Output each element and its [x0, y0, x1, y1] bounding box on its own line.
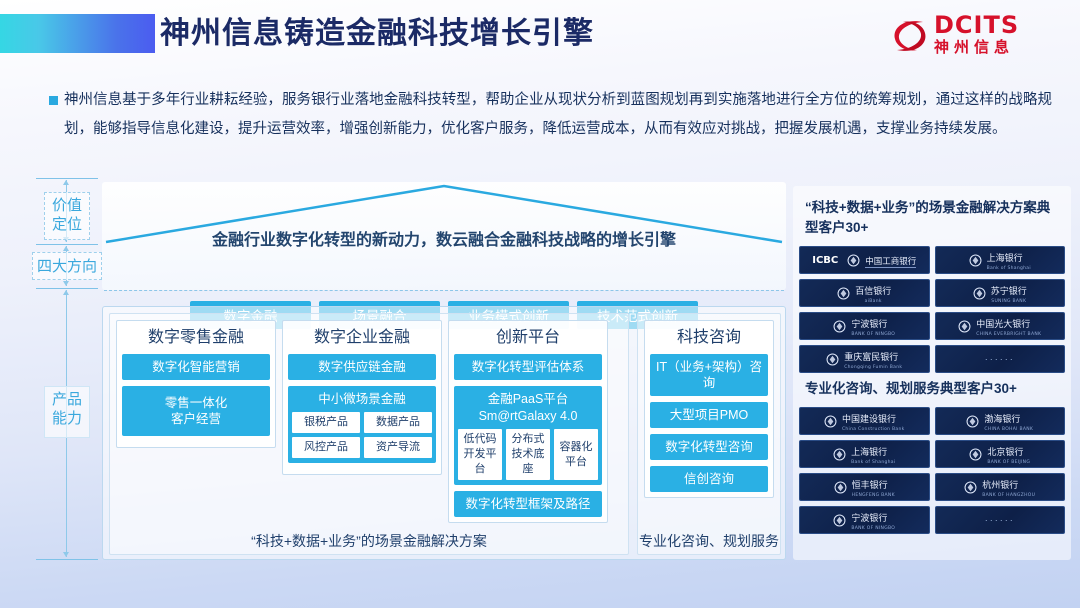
title-accent-bar: [0, 14, 155, 53]
axis-divider: [36, 178, 98, 179]
bank-name-cn: 渤海银行: [984, 414, 1020, 424]
bank-name-cn: 苏宁银行: [991, 286, 1027, 296]
product-column-tech-consulting[interactable]: 科技咨询 IT（业务+架构）咨询 大型项目PMO 数字化转型咨询 信创咨询: [644, 320, 774, 498]
bank-name-cn: 杭州银行: [982, 480, 1018, 490]
intro-text: 神州信息基于多年行业耕耘经验，服务银行业落地金融科技转型，帮助企业从现状分析到蓝…: [64, 86, 1052, 144]
chip-digital-smart-marketing[interactable]: 数字化智能营销: [122, 354, 270, 380]
sub-chip-risk-control[interactable]: 风控产品: [292, 437, 360, 458]
sub-chip-asset-routing[interactable]: 资产导流: [364, 437, 432, 458]
roof-card: 金融行业数字化转型的新动力，数云融合金融科技战略的增长引擎: [102, 182, 786, 290]
customer-logo-tile[interactable]: ······: [935, 506, 1066, 534]
bank-emblem-icon: [973, 287, 986, 300]
bank-emblem-icon: [826, 353, 839, 366]
consulting-group: 科技咨询 IT（业务+架构）咨询 大型项目PMO 数字化转型咨询 信创咨询 专业…: [637, 313, 781, 555]
roof-text: 金融行业数字化转型的新动力，数云融合金融科技战略的增长引擎: [102, 226, 786, 250]
consulting-caption: 专业化咨询、规划服务: [638, 531, 780, 551]
bank-name-cn: 中国建设银行: [842, 414, 896, 424]
bank-emblem-icon: [969, 448, 982, 461]
bank-name-cn: 北京银行: [987, 447, 1023, 457]
bank-emblem-icon: [834, 481, 847, 494]
axis-label-product-capability: 产品 能力: [44, 386, 90, 438]
bank-emblem-icon: [958, 320, 971, 333]
bank-name-en: BANK OF NINGBO: [851, 526, 895, 532]
bank-name-block: 恒丰银行HENGFENG BANK: [852, 475, 895, 499]
column-title: 数字零售金融: [122, 326, 270, 350]
bank-emblem-icon: [833, 448, 846, 461]
bank-emblem-icon: [969, 254, 982, 267]
bank-emblem-icon: [837, 287, 850, 300]
bank-name-en: aiBank: [855, 299, 891, 305]
bank-name-block: 中国建设银行China Construction Bank: [842, 409, 905, 433]
customer-logo-tile[interactable]: ICBC中国工商银行: [799, 246, 930, 274]
chip-transformation-assessment[interactable]: 数字化转型评估体系: [454, 354, 602, 380]
chip-xinchuang-consulting[interactable]: 信创咨询: [650, 466, 768, 492]
customer-logo-tile[interactable]: ······: [935, 345, 1066, 373]
chip-group-financial-paas[interactable]: 金融PaaS平台 Sm@rtGalaxy 4.0 低代码开发平台 分布式技术底座…: [454, 386, 602, 485]
center-diagram: 金融行业数字化转型的新动力，数云融合金融科技战略的增长引擎 数字金融 场景融合 …: [102, 182, 786, 560]
axis-label-value-positioning: 价值 定位: [44, 192, 90, 240]
bank-name-en: BANK OF HANGZHOU: [982, 493, 1035, 499]
bank-name-en: SUNING BANK: [991, 299, 1027, 305]
product-column-retail[interactable]: 数字零售金融 数字化智能营销 零售一体化 客户经营: [116, 320, 276, 448]
value-axis: 价值 定位 四大方向 产品 能力: [30, 178, 102, 560]
bank-name-block: 百信银行aiBank: [855, 281, 891, 305]
customers-section2-heading: 专业化咨询、规划服务典型客户30+: [799, 373, 1065, 407]
axis-divider: [36, 288, 98, 289]
bank-emblem-icon: [964, 481, 977, 494]
bank-name-en: Bank of Shanghai: [851, 460, 895, 466]
bank-name-block: 苏宁银行SUNING BANK: [991, 281, 1027, 305]
customer-logo-grid-1: ICBC中国工商银行上海银行Bank of Shanghai百信银行aiBank…: [799, 246, 1065, 373]
intro-paragraph: 神州信息基于多年行业耕耘经验，服务银行业落地金融科技转型，帮助企业从现状分析到蓝…: [34, 86, 1052, 144]
sub-chip-container-platform[interactable]: 容器化平台: [554, 429, 598, 480]
chip-digital-supply-chain-finance[interactable]: 数字供应链金融: [288, 354, 436, 380]
customer-logo-tile[interactable]: 北京银行BANK OF BEIJING: [935, 440, 1066, 468]
dcits-logo: DCITS 神州信息: [872, 13, 1062, 59]
product-column-enterprise[interactable]: 数字企业金融 数字供应链金融 中小微场景金融 银税产品 数据产品 风控产品 资产…: [282, 320, 442, 475]
product-capability-panel: 数字零售金融 数字化智能营销 零售一体化 客户经营 数字企业金融 数字供应链金融…: [102, 306, 786, 560]
bank-emblem-icon: [833, 320, 846, 333]
bank-name-cn: 重庆富民银行: [844, 352, 898, 362]
bank-name-en: CHINA BOHAI BANK: [984, 427, 1033, 433]
customer-logo-tile[interactable]: 上海银行Bank of Shanghai: [935, 246, 1066, 274]
axis-divider: [36, 244, 98, 245]
bank-emblem-icon: [824, 415, 837, 428]
logo-cn-label: 神州信息: [934, 38, 1019, 57]
customer-logo-tile[interactable]: 上海银行Bank of Shanghai: [799, 440, 930, 468]
bank-name-en: China Construction Bank: [842, 427, 905, 433]
bank-name-cn: 中国工商银行: [865, 256, 916, 268]
bank-name-block: 中国光大银行CHINA EVERBRIGHT BANK: [976, 314, 1041, 338]
chip-group-sme-scenario-finance[interactable]: 中小微场景金融 银税产品 数据产品 风控产品 资产导流: [288, 386, 436, 463]
bank-name-cn: 上海银行: [851, 447, 887, 457]
bank-name-en: BANK OF BEIJING: [987, 460, 1030, 466]
customer-logo-tile[interactable]: 中国光大银行CHINA EVERBRIGHT BANK: [935, 312, 1066, 340]
page-title: 神州信息铸造金融科技增长引擎: [160, 14, 594, 54]
dcits-logo-text: DCITS 神州信息: [934, 13, 1019, 57]
page-header: 神州信息铸造金融科技增长引擎 DCITS 神州信息: [0, 0, 1080, 72]
bank-name-cn: 宁波银行: [851, 319, 887, 329]
bank-name-cn: 中国光大银行: [976, 319, 1030, 329]
bank-name-block: 北京银行BANK OF BEIJING: [987, 442, 1030, 466]
sub-chip-bank-tax[interactable]: 银税产品: [292, 412, 360, 433]
customer-logo-tile[interactable]: 宁波银行BANK OF NINGBO: [799, 506, 930, 534]
chip-it-consulting[interactable]: IT（业务+架构）咨询: [650, 354, 768, 396]
axis-label-four-directions: 四大方向: [32, 252, 102, 280]
customers-section1-heading: “科技+数据+业务”的场景金融解决方案典型客户30+: [799, 192, 1065, 246]
bank-name-en: HENGFENG BANK: [852, 493, 895, 499]
customer-logo-tile[interactable]: 杭州银行BANK OF HANGZHOU: [935, 473, 1066, 501]
solution-group: 数字零售金融 数字化智能营销 零售一体化 客户经营 数字企业金融 数字供应链金融…: [109, 313, 629, 555]
bank-name-block: 重庆富民银行Chongqing Fumin Bank: [844, 347, 902, 371]
bank-emblem-icon: [833, 514, 846, 527]
bank-name-block: 宁波银行BANK OF NINGBO: [851, 314, 895, 338]
customer-logo-tile[interactable]: 恒丰银行HENGFENG BANK: [799, 473, 930, 501]
bank-name-block: 上海银行Bank of Shanghai: [987, 248, 1031, 272]
bank-name-en: Chongqing Fumin Bank: [844, 365, 902, 371]
bank-emblem-icon: [966, 415, 979, 428]
sub-chip-lowcode-platform[interactable]: 低代码开发平台: [458, 429, 502, 480]
customer-logo-tile[interactable]: 中国建设银行China Construction Bank: [799, 407, 930, 435]
product-column-innovation-platform[interactable]: 创新平台 数字化转型评估体系 金融PaaS平台 Sm@rtGalaxy 4.0 …: [448, 320, 608, 523]
customer-logo-tile[interactable]: 渤海银行CHINA BOHAI BANK: [935, 407, 1066, 435]
bank-name-block: 杭州银行BANK OF HANGZHOU: [982, 475, 1035, 499]
more-customers-dots: ······: [985, 354, 1015, 364]
typical-customers-panel: “科技+数据+业务”的场景金融解决方案典型客户30+ ICBC中国工商银行上海银…: [793, 186, 1071, 560]
bank-name-cn: 百信银行: [855, 286, 891, 296]
bank-name-cn: 宁波银行: [851, 513, 887, 523]
bank-name-en: Bank of Shanghai: [987, 266, 1031, 272]
chip-group-title: 金融PaaS平台 Sm@rtGalaxy 4.0: [458, 391, 598, 425]
bank-name-block: 宁波银行BANK OF NINGBO: [851, 508, 895, 532]
column-title: 数字企业金融: [288, 326, 436, 350]
column-title: 创新平台: [454, 326, 602, 350]
customer-logo-tile[interactable]: 百信银行aiBank: [799, 279, 930, 307]
dcits-swoosh-icon: [890, 17, 930, 55]
chip-large-project-pmo[interactable]: 大型项目PMO: [650, 402, 768, 428]
sub-chip-grid: 银税产品 数据产品 风控产品 资产导流: [292, 412, 432, 458]
bank-name-block: 上海银行Bank of Shanghai: [851, 442, 895, 466]
sub-chip-data-product[interactable]: 数据产品: [364, 412, 432, 433]
chip-group-title: 中小微场景金融: [292, 391, 432, 408]
logo-en-label: DCITS: [934, 13, 1019, 37]
bank-name-en: CHINA EVERBRIGHT BANK: [976, 332, 1041, 338]
solution-caption: “科技+数据+业务”的场景金融解决方案: [110, 531, 628, 551]
bank-name-block: 中国工商银行: [865, 251, 916, 269]
bank-name-block: 渤海银行CHINA BOHAI BANK: [984, 409, 1033, 433]
sub-chip-grid: 低代码开发平台 分布式技术底座 容器化平台: [458, 429, 598, 480]
bank-name-cn: 恒丰银行: [852, 480, 888, 490]
bank-emblem-icon: [847, 254, 860, 267]
section-divider: [104, 290, 784, 291]
customer-logo-tile[interactable]: 宁波银行BANK OF NINGBO: [799, 312, 930, 340]
customer-logo-grid-2: 中国建设银行China Construction Bank渤海银行CHINA B…: [799, 407, 1065, 534]
column-title: 科技咨询: [650, 326, 768, 350]
bullet-icon: [49, 96, 58, 105]
chip-retail-integrated-customer-ops[interactable]: 零售一体化 客户经营: [122, 386, 270, 436]
more-customers-dots: ······: [985, 515, 1015, 525]
bank-name-cn: 上海银行: [987, 253, 1023, 263]
bank-name-en: ICBC: [812, 255, 838, 266]
axis-divider: [36, 559, 98, 560]
chip-transformation-framework-path[interactable]: 数字化转型框架及路径: [454, 491, 602, 517]
customer-logo-tile[interactable]: 苏宁银行SUNING BANK: [935, 279, 1066, 307]
chip-digital-transformation-consulting[interactable]: 数字化转型咨询: [650, 434, 768, 460]
customer-logo-tile[interactable]: 重庆富民银行Chongqing Fumin Bank: [799, 345, 930, 373]
sub-chip-distributed-base[interactable]: 分布式技术底座: [506, 429, 550, 480]
bank-name-en: BANK OF NINGBO: [851, 332, 895, 338]
